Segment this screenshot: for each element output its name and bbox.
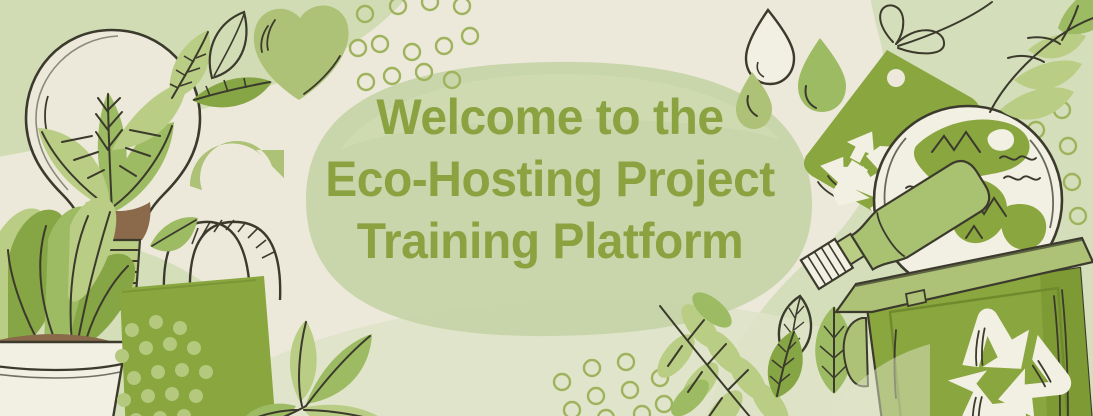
plant-pot: [0, 342, 126, 416]
eco-illustration-artwork: [0, 0, 1093, 416]
tag-hole: [887, 69, 905, 87]
welcome-banner: Welcome to the Eco-Hosting Project Train…: [0, 0, 1093, 416]
potted-plant: [0, 197, 135, 416]
